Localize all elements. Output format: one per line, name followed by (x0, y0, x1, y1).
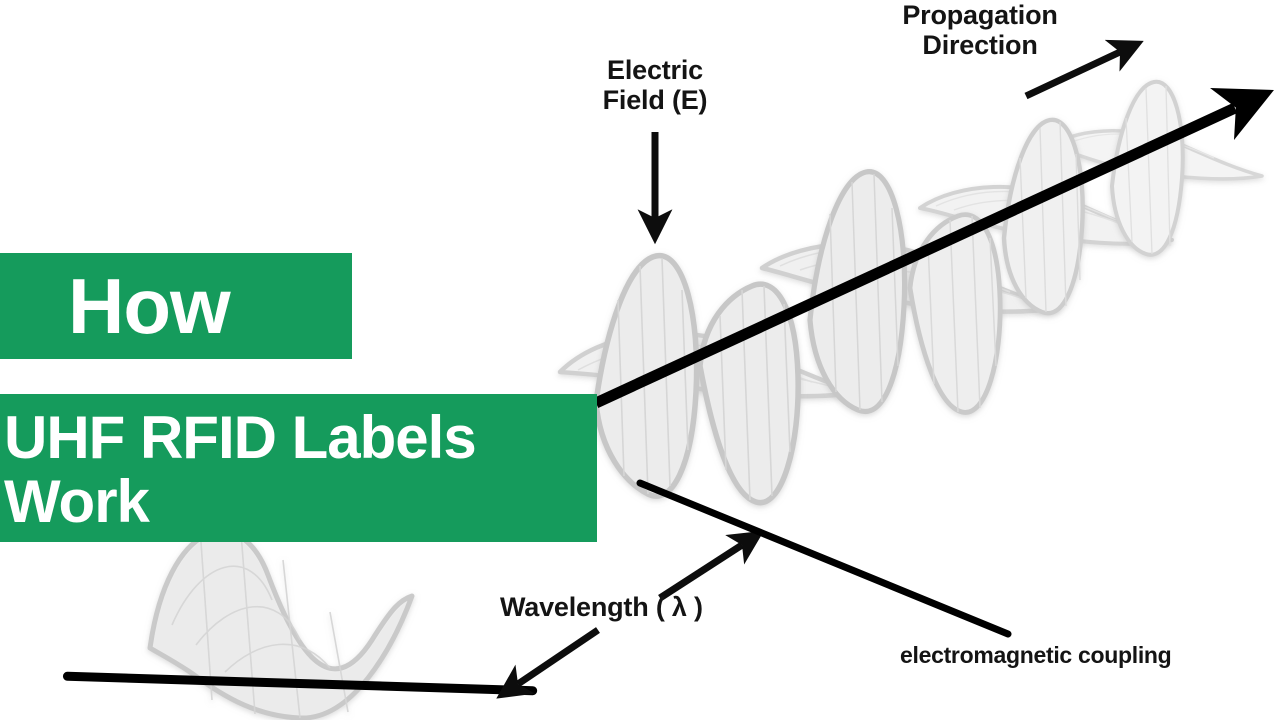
headline-band-how: How (0, 253, 352, 359)
label-electromagnetic-coupling: electromagnetic coupling (900, 643, 1280, 669)
headline-title: UHF RFID Labels Work (4, 394, 476, 534)
wavelength-arrow-up-right-icon (660, 545, 742, 598)
label-electric-field: Electric Field (E) (565, 55, 745, 115)
propagation-axis-main (596, 108, 1235, 403)
headline-band-title: UHF RFID Labels Work (0, 394, 597, 542)
slide-canvas: How UHF RFID Labels Work Electric Field … (0, 0, 1280, 720)
wavelength-arrow-down-left-icon (518, 630, 598, 684)
headline-how: How (68, 267, 230, 345)
label-wavelength: Wavelength ( λ ) (500, 592, 770, 622)
label-propagation-direction: Propagation Direction (860, 0, 1100, 60)
